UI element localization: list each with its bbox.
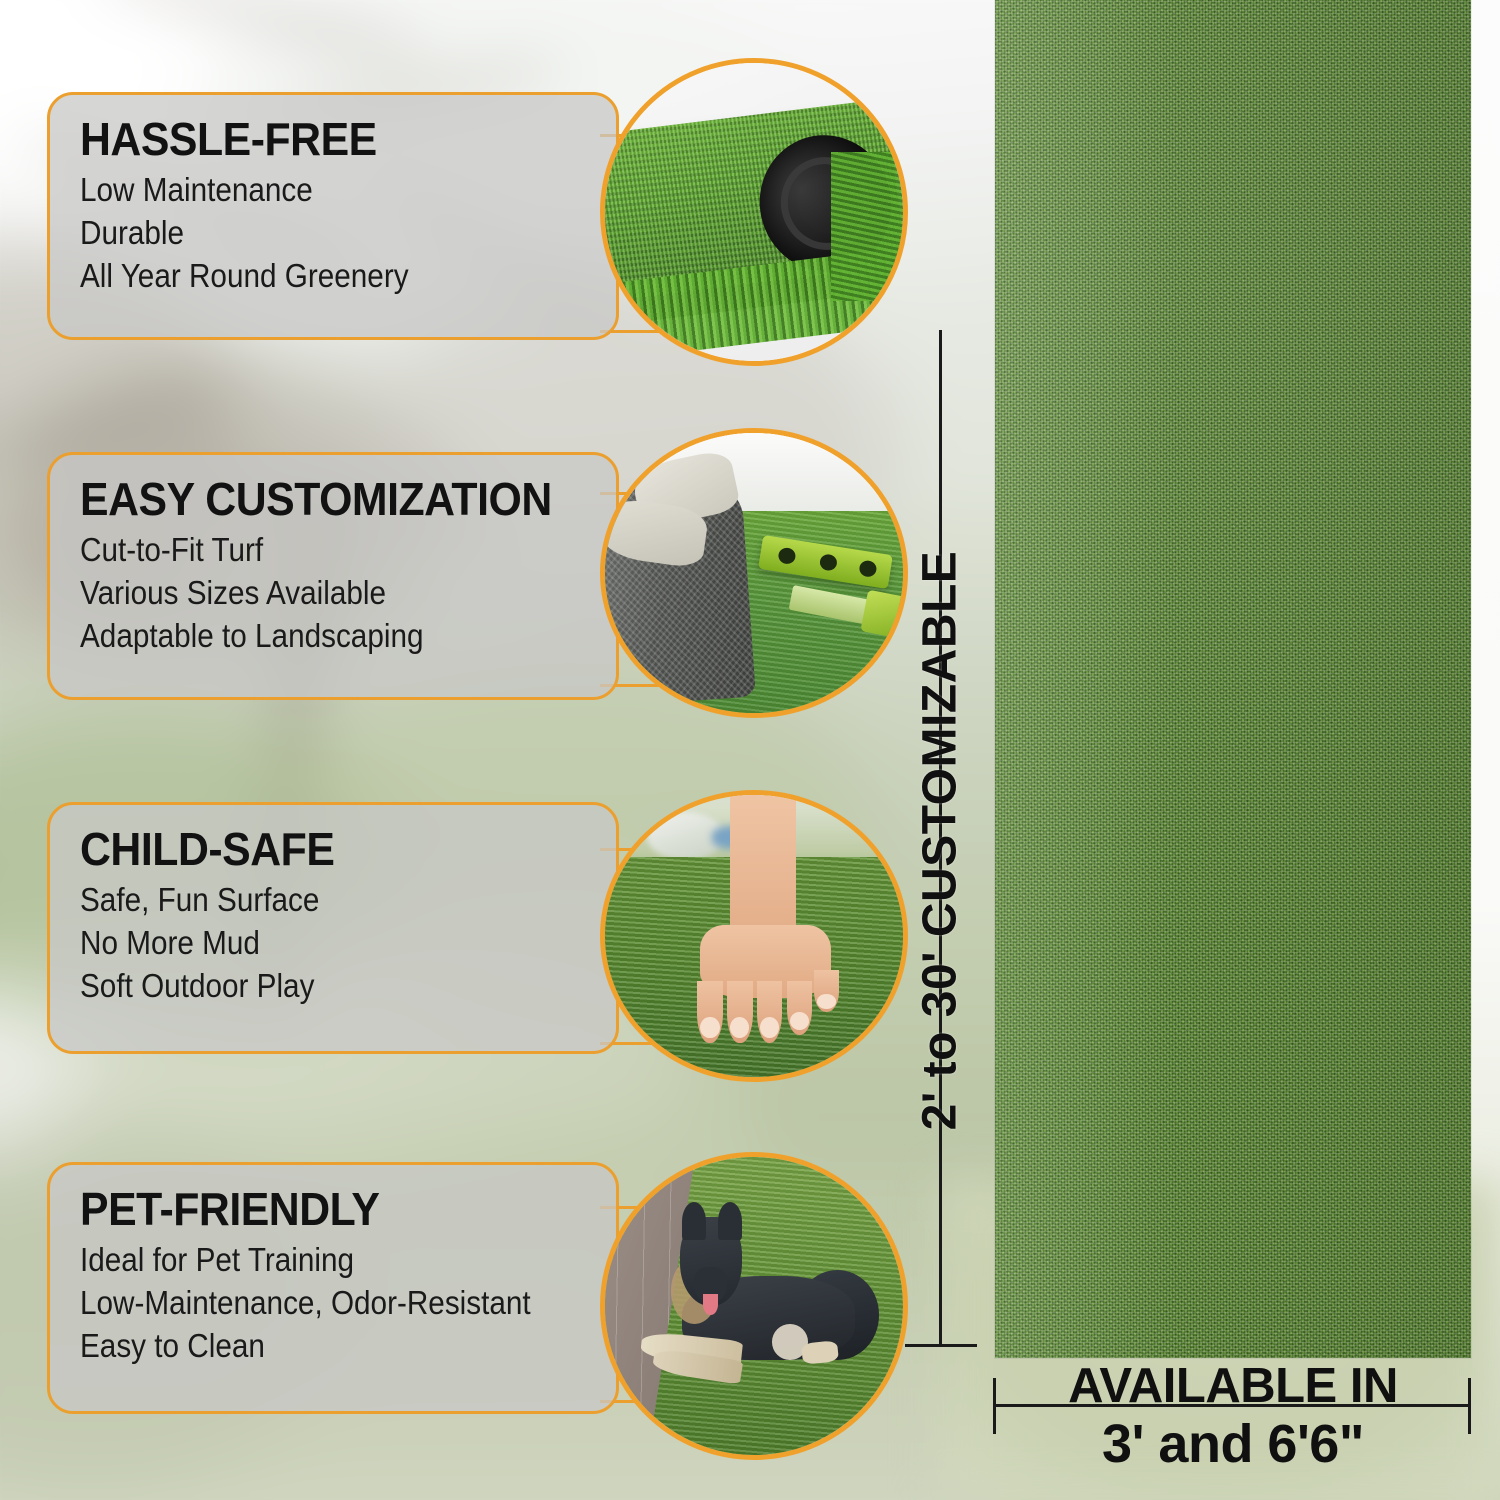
child-hand-on-turf-photo [600, 790, 908, 1082]
feature-card-child-safe[interactable]: CHILD-SAFE Safe, Fun Surface No More Mud… [47, 802, 619, 1054]
feature-card-title: PET-FRIENDLY [80, 1185, 551, 1233]
feature-card-pet-friendly[interactable]: PET-FRIENDLY Ideal for Pet Training Low-… [47, 1162, 619, 1414]
dog-lying-on-turf-photo [600, 1152, 908, 1460]
dog-ear [718, 1202, 742, 1241]
child-finger [787, 981, 812, 1035]
feature-card-line: Ideal for Pet Training [80, 1239, 535, 1282]
feature-card-line: Adaptable to Landscaping [80, 615, 535, 658]
feature-card-line: Safe, Fun Surface [80, 879, 535, 922]
feature-card-hassle-free[interactable]: HASSLE-FREE Low Maintenance Durable All … [47, 92, 619, 340]
turf-roll-shading [995, 0, 1471, 1358]
feature-card-line: Soft Outdoor Play [80, 965, 535, 1008]
child-finger [757, 981, 782, 1043]
dog-ear [682, 1202, 706, 1241]
vertical-dimension-label-text: 2' to 30' CUSTOMIZABLE [913, 550, 968, 1130]
photo-content [605, 433, 903, 713]
feature-card-line: Cut-to-Fit Turf [80, 529, 535, 572]
feature-card-title: CHILD-SAFE [80, 825, 551, 873]
feature-card-line: All Year Round Greenery [80, 255, 535, 298]
feature-card-line: No More Mud [80, 922, 535, 965]
feature-card-title: EASY CUSTOMIZATION [80, 475, 551, 523]
feature-card-line: Low Maintenance [80, 169, 535, 212]
feature-card-line: Durable [80, 212, 535, 255]
tape-measure-body [861, 589, 907, 638]
available-sizes-text: 3' and 6'6" [995, 1417, 1471, 1471]
photo-content [605, 795, 903, 1077]
rolled-turf-closeup-photo [600, 58, 908, 366]
vertical-dimension-end-cap [905, 1344, 977, 1347]
available-in-text: AVAILABLE IN [995, 1362, 1471, 1411]
child-thumb [814, 970, 839, 1012]
photo-content [605, 63, 903, 361]
feature-card-line: Various Sizes Available [80, 572, 535, 615]
vertical-dimension-label: 2' to 30' CUSTOMIZABLE [905, 370, 975, 1310]
feature-card-title: HASSLE-FREE [80, 115, 551, 163]
turf-fringe [831, 152, 908, 301]
feature-card-easy-customization[interactable]: EASY CUSTOMIZATION Cut-to-Fit Turf Vario… [47, 452, 619, 700]
horizontal-dimension-label: AVAILABLE IN 3' and 6'6" [995, 1362, 1471, 1471]
child-finger [727, 981, 752, 1043]
feature-card-line: Low-Maintenance, Odor-Resistant [80, 1282, 535, 1325]
feature-card-line: Easy to Clean [80, 1325, 535, 1368]
turf-roll-product-image [995, 0, 1471, 1358]
infographic-canvas: HASSLE-FREE Low Maintenance Durable All … [0, 0, 1500, 1500]
child-finger [697, 981, 722, 1043]
dog-rear-paw [801, 1340, 839, 1364]
photo-content [605, 1157, 903, 1455]
gloved-hands-unrolling-turf-photo [600, 428, 908, 718]
